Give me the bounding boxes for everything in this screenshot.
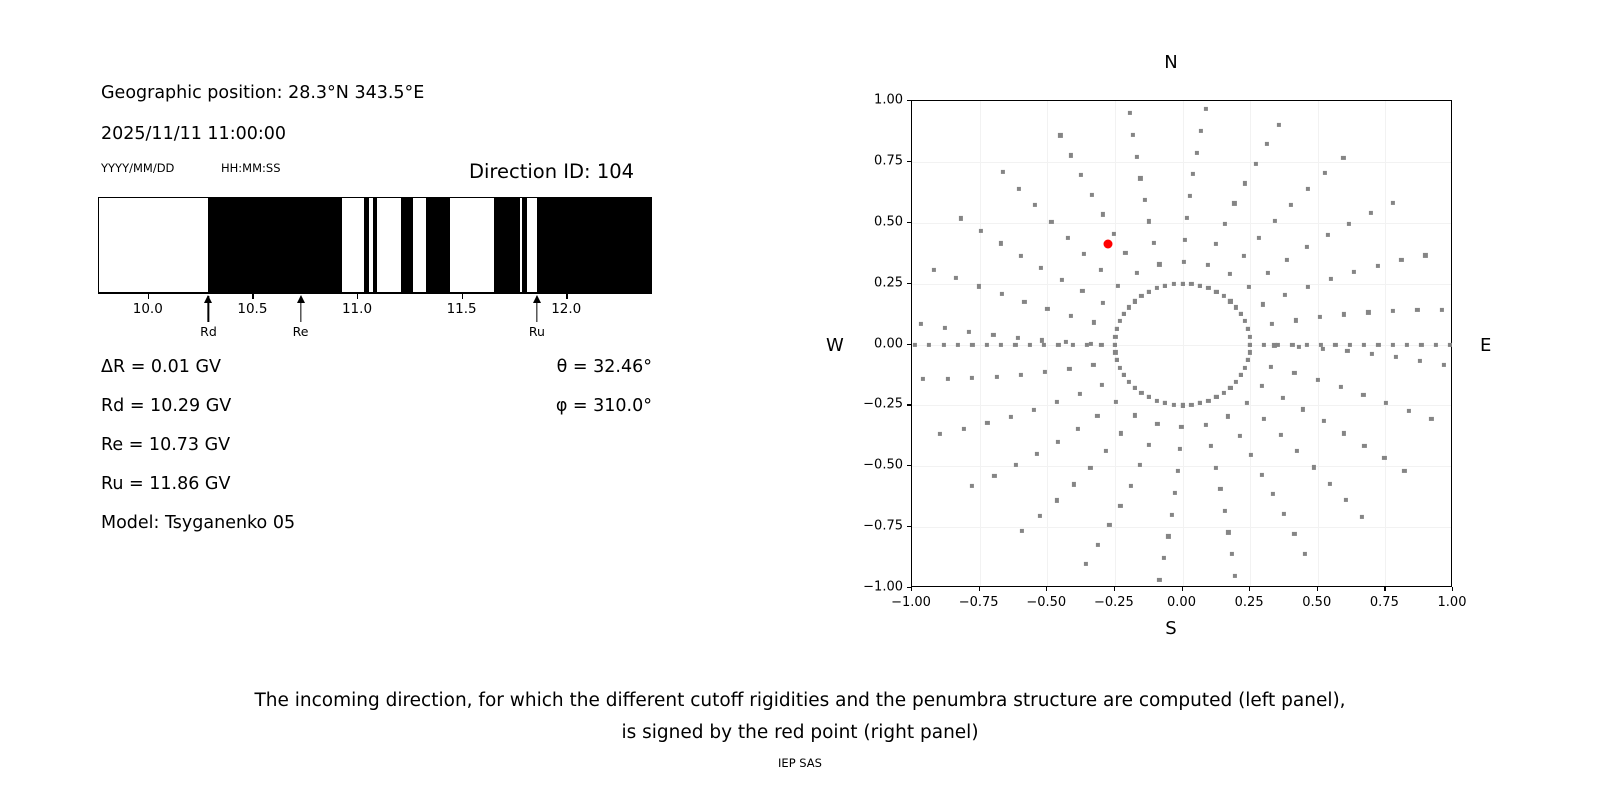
sky-direction-point [1305, 342, 1309, 346]
sky-direction-point [1082, 252, 1086, 256]
sky-direction-point [1055, 498, 1059, 502]
sky-direction-point [1112, 232, 1116, 236]
cutoff-marker-label: Re [293, 324, 309, 339]
sky-direction-point [1306, 187, 1310, 191]
penumbra-forbidden-segment [401, 198, 413, 292]
grid-line-horizontal [912, 162, 1451, 163]
sky-direction-point [1277, 123, 1281, 127]
sky-x-tick [979, 587, 980, 591]
sky-direction-point [1080, 289, 1084, 293]
sky-direction-point [1198, 284, 1202, 288]
sky-direction-point [999, 292, 1003, 296]
sky-direction-point [1265, 142, 1269, 146]
sky-direction-point [1114, 400, 1118, 404]
sky-direction-point [1191, 172, 1195, 176]
sky-direction-point [1233, 574, 1237, 578]
cutoff-value-line: ΔR = 0.01 GV [101, 357, 221, 377]
penumbra-forbidden-segment [537, 198, 652, 292]
sky-direction-point [1155, 422, 1159, 426]
sky-direction-point [1084, 562, 1088, 566]
grid-line-vertical [1183, 101, 1184, 586]
sky-direction-point [1347, 222, 1351, 226]
sky-x-tick [1182, 587, 1183, 591]
sky-y-tick-label: 0.75 [849, 153, 903, 168]
figure-root: Geographic position: 28.3°N 343.5°E 2025… [0, 0, 1600, 800]
sky-direction-point [1246, 358, 1250, 362]
sky-direction-point [1172, 403, 1176, 407]
grid-line-vertical [1047, 101, 1048, 586]
sky-direction-point [1360, 515, 1364, 519]
sky-direction-point [1155, 399, 1159, 403]
sky-direction-point [1042, 342, 1046, 346]
sky-direction-point [999, 241, 1003, 245]
footer-credit: IEP SAS [0, 756, 1600, 770]
angle-value-line: θ = 32.46° [540, 357, 652, 377]
sky-direction-point [1038, 514, 1042, 518]
sky-direction-point [1138, 463, 1142, 467]
sky-direction-point [1279, 433, 1283, 437]
cutoff-marker-label: Ru [529, 324, 545, 339]
sky-direction-point [1122, 312, 1126, 316]
sky-direction-point [1113, 334, 1117, 338]
sky-direction-point [1020, 529, 1024, 533]
sky-direction-point [1232, 201, 1236, 205]
sky-direction-point [1118, 503, 1122, 507]
penumbra-forbidden-segment [373, 198, 377, 292]
sky-direction-point [1391, 309, 1395, 313]
sky-direction-point [1085, 342, 1089, 346]
grid-line-vertical [1385, 101, 1386, 586]
sky-direction-point [1172, 282, 1176, 286]
sky-direction-point [1069, 153, 1073, 157]
sky-direction-point [1076, 427, 1080, 431]
sky-direction-point [970, 484, 974, 488]
penumbra-axis-tick-label: 11.0 [342, 301, 372, 317]
grid-line-horizontal [912, 527, 1451, 528]
sky-direction-point [1276, 342, 1280, 346]
sky-direction-point [1402, 468, 1406, 472]
sky-direction-point [1322, 419, 1326, 423]
sky-direction-point [1035, 452, 1039, 456]
sky-direction-point [1269, 364, 1273, 368]
sky-direction-point [1180, 403, 1184, 407]
sky-direction-point [942, 342, 946, 346]
sky-direction-point [927, 342, 931, 346]
sky-direction-point [1239, 312, 1243, 316]
sky-x-tick-label: 0.75 [1370, 595, 1399, 610]
penumbra-forbidden-segment [494, 198, 520, 292]
sky-direction-point [1315, 378, 1319, 382]
compass-north-label: N [1164, 52, 1177, 73]
sky-direction-point [1260, 472, 1264, 476]
sky-direction-point [1131, 133, 1135, 137]
sky-direction-point [1301, 407, 1305, 411]
sky-direction-point [1328, 482, 1332, 486]
sky-direction-point [1099, 268, 1103, 272]
sky-direction-point [1134, 155, 1138, 159]
sky-direction-point [1319, 342, 1323, 346]
sky-direction-point [985, 421, 989, 425]
sky-direction-point [1262, 417, 1266, 421]
sky-direction-point [1326, 233, 1330, 237]
sky-direction-point [1376, 342, 1380, 346]
sky-direction-point [1272, 219, 1276, 223]
sky-direction-point [1341, 156, 1345, 160]
sky-map-plot-area [911, 100, 1452, 587]
penumbra-forbidden-segment [364, 198, 369, 292]
sky-direction-point [1282, 512, 1286, 516]
sky-x-tick-label: −0.75 [959, 595, 999, 610]
caption-line-1: The incoming direction, for which the di… [0, 685, 1600, 717]
sky-direction-point [1214, 395, 1218, 399]
sky-direction-point [1429, 417, 1433, 421]
cutoff-value-line: Re = 10.73 GV [101, 435, 230, 455]
sky-direction-point [970, 342, 974, 346]
sky-direction-point [1022, 300, 1026, 304]
sky-direction-point [1318, 315, 1322, 319]
sky-direction-point [1290, 342, 1294, 346]
grid-line-vertical [980, 101, 981, 586]
sky-direction-point [1090, 193, 1094, 197]
sky-direction-point [1115, 358, 1119, 362]
sky-direction-point [1019, 254, 1023, 258]
sky-y-tick-label: −0.75 [849, 519, 903, 534]
sky-direction-point [945, 377, 949, 381]
cutoff-value-line: Model: Tsyganenko 05 [101, 513, 295, 533]
sky-direction-point [1205, 263, 1209, 267]
sky-direction-point [921, 377, 925, 381]
sky-direction-point [1071, 342, 1075, 346]
sky-direction-point [1147, 443, 1151, 447]
sky-direction-point [1270, 322, 1274, 326]
sky-direction-point [1206, 399, 1210, 403]
sky-x-tick [1114, 587, 1115, 591]
sky-direction-point [1260, 384, 1264, 388]
sky-direction-point [1176, 469, 1180, 473]
sky-direction-point [1399, 258, 1403, 262]
sky-direction-point [1261, 302, 1265, 306]
penumbra-axis-tick [252, 293, 253, 299]
sky-direction-point [1045, 307, 1049, 311]
sky-direction-point [1262, 342, 1266, 346]
sky-direction-point [1016, 336, 1020, 340]
sky-direction-point [1129, 483, 1133, 487]
penumbra-axis-tick [357, 293, 358, 299]
penumbra-forbidden-segment [426, 198, 449, 292]
sky-direction-point [1415, 308, 1419, 312]
sky-direction-point [1064, 340, 1068, 344]
penumbra-axis-line [98, 293, 652, 294]
sky-direction-point [1049, 219, 1053, 223]
sky-direction-point [1095, 414, 1099, 418]
penumbra-axis-tick-label: 12.0 [551, 301, 581, 317]
sky-direction-point [1173, 491, 1177, 495]
geographic-position-label: Geographic position: 28.3°N 343.5°E [101, 83, 424, 103]
sky-direction-point [1405, 342, 1409, 346]
sky-direction-point [1297, 345, 1301, 349]
sky-direction-point [1142, 198, 1146, 202]
sky-direction-point [1226, 530, 1230, 534]
sky-direction-point [1253, 162, 1257, 166]
sky-direction-point [1344, 498, 1348, 502]
sky-direction-point [1407, 409, 1411, 413]
sky-direction-point [1238, 434, 1242, 438]
sky-x-tick [1046, 587, 1047, 591]
sky-direction-point [937, 432, 941, 436]
sky-direction-point [1283, 293, 1287, 297]
right-panel: N S W E −1.00−0.75−0.50−0.250.000.250.50… [820, 40, 1520, 660]
sky-x-tick [1317, 587, 1318, 591]
angle-value-line: φ = 310.0° [540, 396, 652, 416]
sky-direction-point [1361, 393, 1365, 397]
penumbra-axis-tick [462, 293, 463, 299]
sky-direction-point [1147, 219, 1151, 223]
sky-direction-point [1099, 342, 1103, 346]
sky-direction-point [1079, 173, 1083, 177]
sky-y-tick-label: 0.00 [849, 336, 903, 351]
sky-direction-point [1348, 342, 1352, 346]
sky-direction-point [1092, 320, 1096, 324]
sky-direction-point [1178, 447, 1182, 451]
sky-direction-point [1017, 187, 1021, 191]
sky-direction-point [1122, 373, 1126, 377]
sky-direction-point [1230, 552, 1234, 556]
sky-direction-point [1391, 201, 1395, 205]
sky-direction-point [1434, 342, 1438, 346]
sky-direction-point [1091, 363, 1095, 367]
sky-direction-point [1209, 444, 1213, 448]
sky-direction-point [1228, 385, 1232, 389]
sky-direction-point [992, 474, 996, 478]
sky-direction-point [1214, 242, 1218, 246]
sky-y-tick [907, 526, 911, 527]
sky-direction-point [977, 284, 981, 288]
sky-direction-point [1170, 513, 1174, 517]
sky-direction-point [1133, 299, 1137, 303]
sky-direction-point [1281, 396, 1285, 400]
sky-direction-point [1185, 216, 1189, 220]
sky-direction-point [959, 216, 963, 220]
sky-direction-point [1043, 370, 1047, 374]
sky-direction-point [1306, 285, 1310, 289]
sky-direction-point [1147, 290, 1151, 294]
sky-direction-point [1418, 359, 1422, 363]
sky-direction-point [943, 326, 947, 330]
sky-direction-point [1115, 327, 1119, 331]
sky-direction-point [1163, 401, 1167, 405]
sky-direction-point [1069, 314, 1073, 318]
sky-direction-point [1243, 319, 1247, 323]
sky-direction-point [1247, 334, 1251, 338]
sky-direction-point [1139, 294, 1143, 298]
sky-direction-point [1088, 466, 1092, 470]
sky-direction-point [1292, 371, 1296, 375]
sky-direction-point [1382, 456, 1386, 460]
sky-direction-point [999, 342, 1003, 346]
sky-direction-point [1118, 319, 1122, 323]
sky-direction-point [1303, 551, 1307, 555]
sky-direction-point [1135, 271, 1139, 275]
sky-direction-point [1199, 129, 1203, 133]
sky-direction-point [1312, 465, 1316, 469]
sky-direction-point [1204, 423, 1208, 427]
sky-direction-point [1228, 271, 1232, 275]
sky-direction-point [1009, 415, 1013, 419]
sky-direction-point [970, 376, 974, 380]
sky-direction-point [1032, 408, 1036, 412]
sky-direction-point [1247, 350, 1251, 354]
sky-direction-point [1119, 431, 1123, 435]
sky-direction-point [956, 342, 960, 346]
sky-direction-point [1101, 212, 1105, 216]
sky-y-tick-label: 1.00 [849, 93, 903, 108]
penumbra-chart [98, 197, 652, 293]
sky-direction-point [1180, 282, 1184, 286]
selected-direction-point[interactable] [1103, 240, 1112, 249]
sky-direction-point [1218, 487, 1222, 491]
sky-direction-point [1375, 264, 1379, 268]
sky-y-tick [907, 404, 911, 405]
sky-direction-point [967, 330, 971, 334]
sky-y-tick-label: 0.50 [849, 214, 903, 229]
sky-direction-point [1123, 251, 1127, 255]
compass-south-label: S [1165, 618, 1176, 639]
sky-direction-point [1440, 308, 1444, 312]
arrow-up-icon [533, 295, 541, 303]
sky-direction-point [1078, 392, 1082, 396]
sky-direction-point [1369, 352, 1373, 356]
sky-direction-point [1369, 211, 1373, 215]
sky-direction-point [1342, 312, 1346, 316]
sky-x-tick [1249, 587, 1250, 591]
sky-direction-point [1183, 238, 1187, 242]
sky-direction-point [1189, 282, 1193, 286]
sky-direction-point [1366, 310, 1370, 314]
compass-west-label: W [826, 335, 844, 356]
sky-y-tick [907, 344, 911, 345]
sky-direction-point [1234, 305, 1238, 309]
sky-direction-point [1214, 465, 1218, 469]
sky-direction-point [1257, 236, 1261, 240]
sky-y-tick [907, 100, 911, 101]
sky-y-tick [907, 587, 911, 588]
sky-direction-point [994, 374, 998, 378]
sky-direction-point [1152, 241, 1156, 245]
sky-direction-point [1127, 379, 1131, 383]
sky-direction-point [1118, 366, 1122, 370]
sky-direction-point [1060, 277, 1064, 281]
sky-direction-point [1179, 425, 1183, 429]
sky-direction-point [919, 322, 923, 326]
sky-direction-point [1138, 176, 1142, 180]
sky-direction-point [1295, 449, 1299, 453]
sky-direction-point [1107, 523, 1111, 527]
sky-direction-point [1352, 270, 1356, 274]
sky-direction-point [1362, 443, 1366, 447]
sky-direction-point [1345, 349, 1349, 353]
sky-x-tick-label: −0.25 [1094, 595, 1134, 610]
sky-direction-point [1323, 171, 1327, 175]
sky-x-tick-label: 0.50 [1302, 595, 1331, 610]
sky-x-tick [911, 587, 912, 591]
sky-direction-point [1072, 482, 1076, 486]
sky-direction-point [1066, 236, 1070, 240]
sky-direction-point [1033, 203, 1037, 207]
sky-direction-point [1285, 258, 1289, 262]
sky-direction-point [978, 229, 982, 233]
grid-line-horizontal [912, 223, 1451, 224]
sky-direction-point [1223, 222, 1227, 226]
sky-direction-point [1127, 305, 1131, 309]
sky-direction-point [1056, 440, 1060, 444]
penumbra-forbidden-segment [208, 198, 341, 292]
cutoff-value-line: Rd = 10.29 GV [101, 396, 231, 416]
sky-direction-point [1104, 449, 1108, 453]
sky-direction-point [1188, 194, 1192, 198]
sky-direction-point [1321, 347, 1325, 351]
sky-direction-point [1056, 342, 1060, 346]
sky-direction-point [1338, 385, 1342, 389]
sky-direction-point [1181, 260, 1185, 264]
sky-direction-point [1013, 342, 1017, 346]
sky-direction-point [931, 268, 935, 272]
sky-direction-point [1001, 170, 1005, 174]
sky-direction-point [1228, 299, 1232, 303]
sky-direction-point [1234, 379, 1238, 383]
datetime-label: 2025/11/11 11:00:00 [101, 124, 286, 144]
penumbra-axis-tick-label: 10.0 [133, 301, 163, 317]
sky-direction-point [991, 333, 995, 337]
penumbra-band [98, 197, 652, 293]
left-panel: Geographic position: 28.3°N 343.5°E 2025… [0, 0, 760, 620]
sky-direction-point [1128, 111, 1132, 115]
sky-direction-point [1116, 284, 1120, 288]
sky-direction-point [1163, 284, 1167, 288]
sky-direction-point [1100, 383, 1104, 387]
sky-direction-point [1266, 271, 1270, 275]
sky-y-tick [907, 222, 911, 223]
penumbra-axis-tick [566, 293, 567, 299]
sky-direction-point [1245, 401, 1249, 405]
sky-direction-point [1448, 342, 1452, 346]
sky-direction-point [1271, 492, 1275, 496]
sky-direction-point [1384, 401, 1388, 405]
sky-direction-point [1226, 414, 1230, 418]
sky-direction-point [1096, 543, 1100, 547]
sky-direction-point [1067, 367, 1071, 371]
date-format-hint: YYYY/MM/DD [101, 161, 174, 175]
sky-direction-point [1014, 463, 1018, 467]
sky-direction-point [1203, 107, 1207, 111]
figure-caption: The incoming direction, for which the di… [0, 685, 1600, 749]
sky-direction-point [1342, 431, 1346, 435]
sky-direction-point [1243, 366, 1247, 370]
sky-direction-point [1028, 342, 1032, 346]
sky-direction-point [1139, 391, 1143, 395]
sky-direction-point [1242, 254, 1246, 258]
sky-x-tick-label: 0.00 [1167, 595, 1196, 610]
cutoff-marker-label: Rd [200, 324, 217, 339]
penumbra-axis-tick [148, 293, 149, 299]
sky-direction-point [985, 342, 989, 346]
sky-direction-point [1206, 286, 1210, 290]
compass-east-label: E [1480, 335, 1491, 356]
arrow-up-icon [204, 295, 212, 303]
sky-direction-point [1039, 266, 1043, 270]
sky-direction-point [1189, 403, 1193, 407]
sky-y-tick-label: 0.25 [849, 275, 903, 290]
sky-direction-point [1249, 453, 1253, 457]
